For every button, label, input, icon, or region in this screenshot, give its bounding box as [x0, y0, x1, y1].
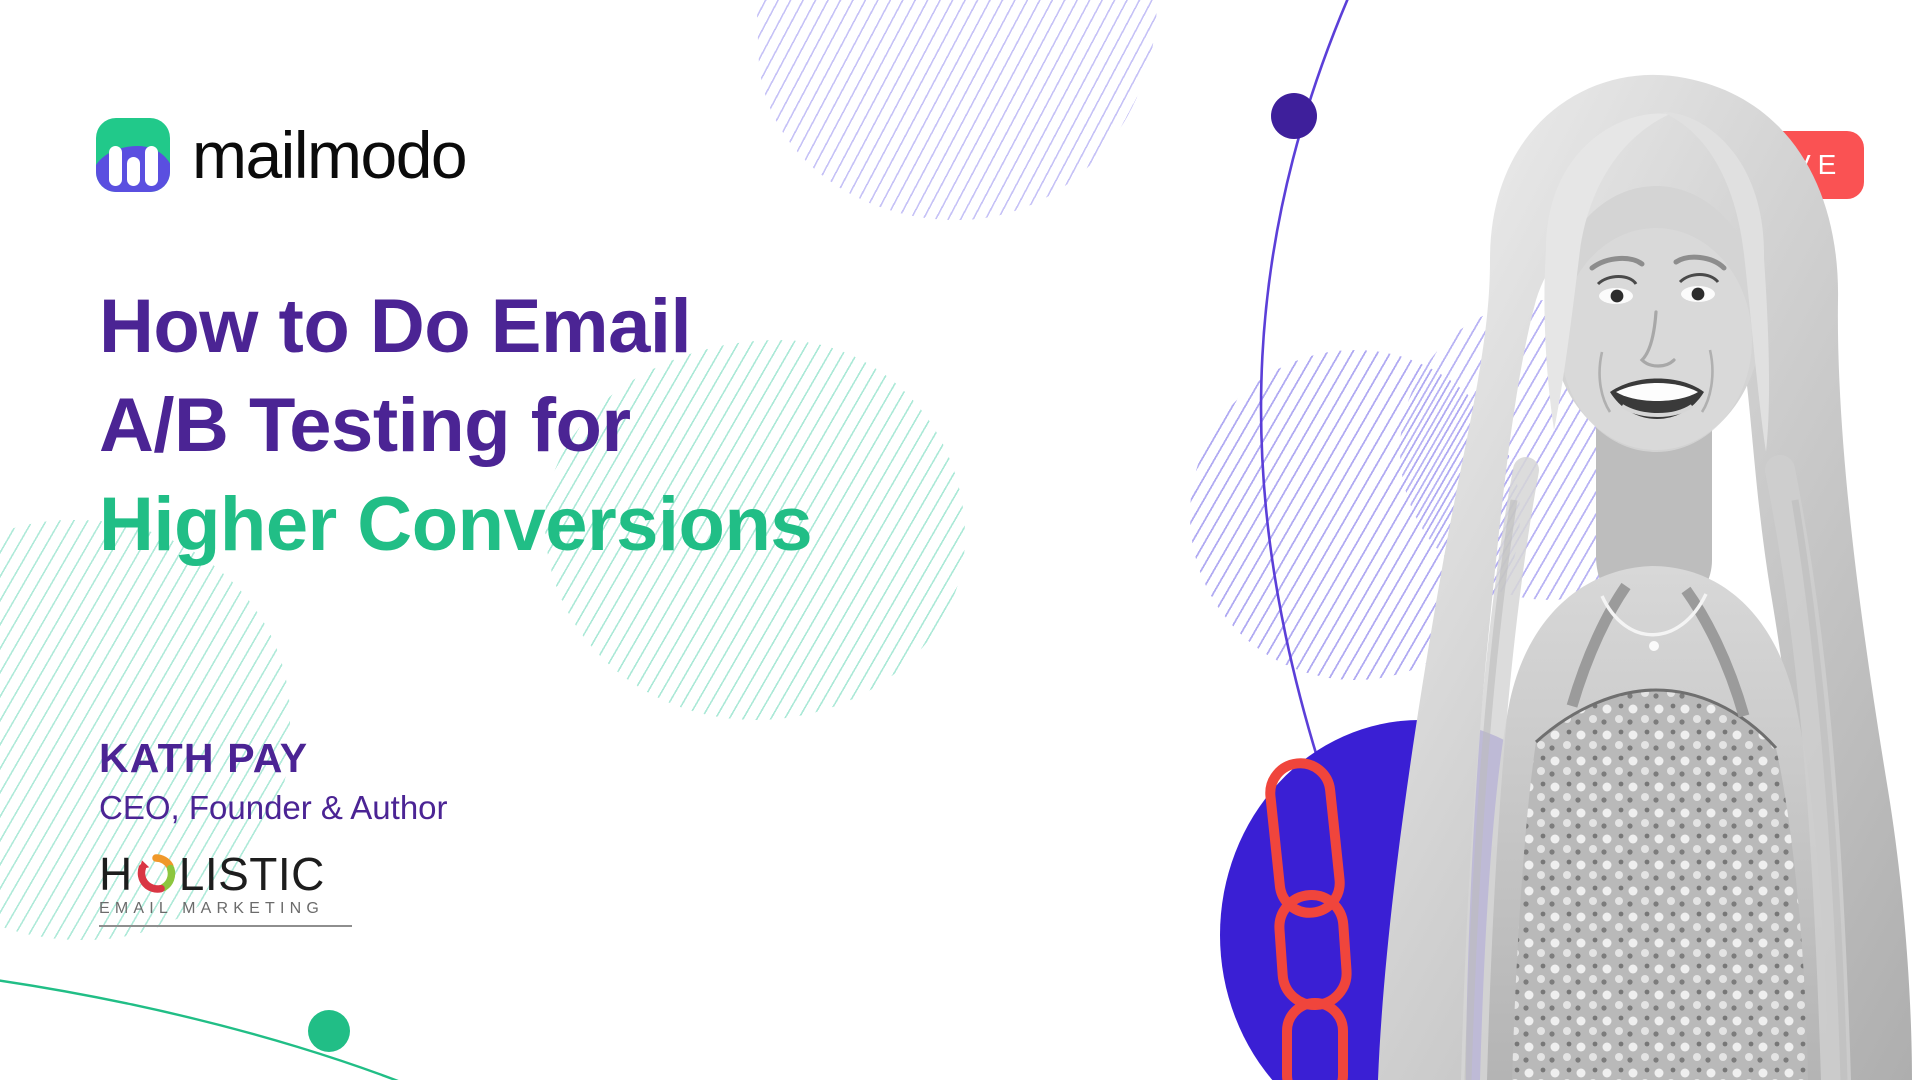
holistic-letter-h: H	[99, 851, 133, 897]
mailmodo-m-icon	[96, 118, 170, 192]
speaker-photo-area	[1220, 0, 1920, 1080]
page-title: How to Do Email A/B Testing for Higher C…	[99, 278, 1099, 574]
speaker-info: KATH PAY CEO, Founder & Author H LISTIC …	[99, 735, 448, 927]
headline-line-3: Higher Conversions	[99, 476, 1099, 575]
headline-line-2: A/B Testing for	[99, 377, 1099, 476]
webinar-promo-banner: mailmodo LIVE How to Do Email A/B Testin…	[0, 0, 1920, 1080]
brand-logo[interactable]: mailmodo	[96, 118, 466, 192]
headline-line-1: How to Do Email	[99, 278, 1099, 377]
holistic-underline	[99, 925, 352, 927]
speaker-portrait	[1340, 0, 1920, 1080]
speaker-role: CEO, Founder & Author	[99, 788, 448, 828]
brand-wordmark: mailmodo	[192, 122, 466, 188]
holistic-circular-arrow-icon	[134, 852, 178, 896]
holistic-tagline: EMAIL MARKETING	[99, 900, 352, 925]
speaker-name: KATH PAY	[99, 735, 448, 782]
holistic-email-marketing-logo: H LISTIC EMAIL MARKETING	[99, 850, 352, 927]
holistic-letters-listic: LISTIC	[179, 851, 325, 897]
